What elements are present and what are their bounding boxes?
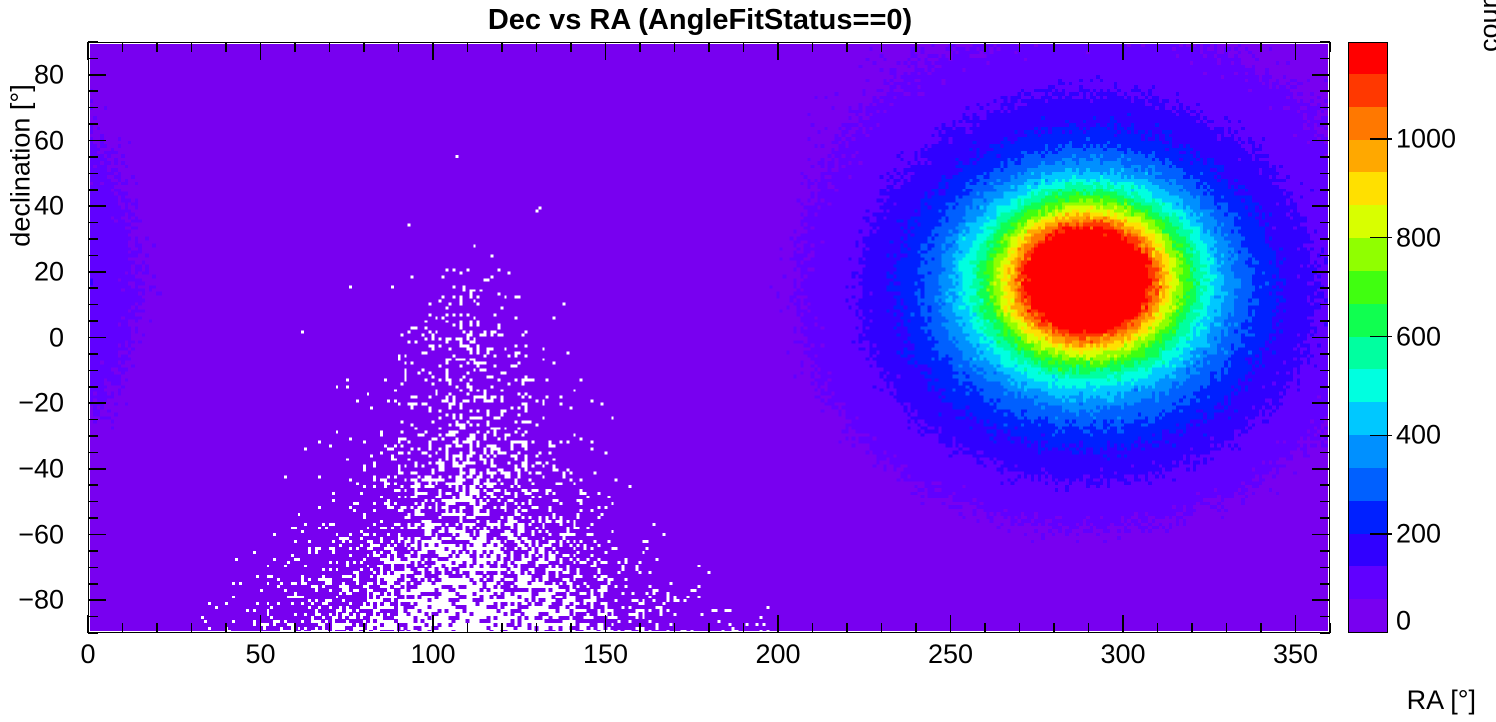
x-tick-minor-top	[329, 42, 331, 52]
x-tick-minor	[294, 623, 296, 633]
x-tick-minor-top	[708, 42, 710, 52]
x-tick-minor-top	[398, 42, 400, 52]
y-tick-minor	[88, 452, 98, 454]
x-tick-minor-top	[536, 42, 538, 52]
x-tick-minor	[1191, 623, 1193, 633]
y-tick-minor-right	[1320, 583, 1330, 585]
x-tick-label: 250	[928, 639, 973, 670]
y-tick-minor-right	[1320, 517, 1330, 519]
y-tick-minor-right	[1312, 205, 1330, 207]
y-tick-minor	[88, 435, 98, 437]
color-scale-tick-label: 0	[1396, 606, 1411, 637]
x-tick-minor	[777, 615, 779, 633]
y-tick-minor-right	[1320, 173, 1330, 175]
y-tick-minor	[88, 189, 98, 191]
x-tick-minor	[329, 623, 331, 633]
color-scale-tick-label: 200	[1396, 519, 1441, 550]
x-tick-minor	[122, 623, 124, 633]
y-tick-minor-right	[1320, 123, 1330, 125]
y-tick-minor	[88, 386, 98, 388]
x-tick-minor-top	[984, 42, 986, 52]
x-tick-minor	[1088, 623, 1090, 633]
x-tick-minor-top	[156, 42, 158, 52]
x-tick-minor	[1157, 623, 1159, 633]
x-tick-label: 200	[755, 639, 800, 670]
x-tick-minor	[950, 615, 952, 633]
x-tick-label: 150	[583, 639, 628, 670]
y-axis-title-text: declination [°]	[6, 84, 37, 246]
plot-canvas-root: Dec vs RA (AngleFitStatus==0) 0501001502…	[0, 0, 1496, 722]
color-band	[1349, 42, 1387, 74]
x-tick-minor	[1295, 615, 1297, 633]
color-band	[1349, 402, 1387, 435]
y-tick-minor	[88, 304, 98, 306]
x-tick-minor	[1019, 623, 1021, 633]
x-tick-label: 300	[1100, 639, 1145, 670]
y-tick-minor-right	[1320, 370, 1330, 372]
histogram-image	[90, 44, 1329, 632]
x-tick-minor	[605, 615, 607, 633]
x-tick-minor-top	[605, 42, 607, 60]
x-tick-minor	[191, 623, 193, 633]
y-tick-minor-right	[1320, 287, 1330, 289]
x-tick-minor	[501, 623, 503, 633]
y-tick-minor-right	[1320, 484, 1330, 486]
x-tick-minor	[984, 623, 986, 633]
x-tick-minor	[1122, 615, 1124, 633]
x-axis-title: RA [°]	[1407, 685, 1476, 716]
y-tick-minor	[88, 255, 98, 257]
y-tick-minor	[88, 238, 98, 240]
x-tick-minor	[570, 623, 572, 633]
y-tick-minor	[88, 222, 98, 224]
y-tick-minor-right	[1312, 402, 1330, 404]
x-tick-minor	[156, 623, 158, 633]
x-tick-minor-top	[1053, 42, 1055, 52]
x-tick-minor-top	[950, 42, 952, 60]
color-band	[1349, 566, 1387, 599]
x-tick-minor-top	[812, 42, 814, 52]
y-tick-minor-right	[1320, 616, 1330, 618]
x-tick-minor	[1260, 623, 1262, 633]
y-tick-minor-right	[1312, 599, 1330, 601]
y-tick-minor-right	[1312, 271, 1330, 273]
x-tick-minor-top	[1019, 42, 1021, 52]
x-tick-minor-top	[260, 42, 262, 60]
color-scale-tick-label: 600	[1396, 321, 1441, 352]
y-tick-minor-right	[1320, 41, 1330, 43]
x-tick-minor-top	[467, 42, 469, 52]
y-tick-minor-right	[1320, 58, 1330, 60]
y-tick-minor	[88, 550, 98, 552]
color-scale-bar	[1348, 42, 1388, 633]
color-band	[1349, 106, 1387, 139]
y-tick-minor	[88, 320, 98, 322]
x-tick-minor-top	[294, 42, 296, 52]
color-band	[1349, 369, 1387, 402]
y-tick-minor-right	[1320, 435, 1330, 437]
y-tick-minor	[88, 140, 106, 142]
x-tick-minor	[915, 623, 917, 633]
y-tick-minor-right	[1320, 156, 1330, 158]
x-tick-minor-top	[225, 42, 227, 52]
y-tick-minor-right	[1320, 501, 1330, 503]
y-tick-minor-right	[1320, 90, 1330, 92]
x-tick-label: 100	[410, 639, 455, 670]
color-band	[1349, 237, 1387, 270]
y-tick-minor-right	[1320, 632, 1330, 634]
y-tick-minor-right	[1312, 534, 1330, 536]
x-tick-minor	[398, 623, 400, 633]
x-tick-minor	[467, 623, 469, 633]
y-tick-minor-right	[1320, 386, 1330, 388]
chart-title: Dec vs RA (AngleFitStatus==0)	[0, 4, 1400, 37]
x-tick-minor-top	[122, 42, 124, 52]
y-tick-minor	[88, 599, 106, 601]
x-tick-minor-top	[363, 42, 365, 52]
x-tick-minor-top	[1226, 42, 1228, 52]
x-tick-minor-top	[743, 42, 745, 52]
color-band	[1349, 139, 1387, 172]
y-tick-minor-right	[1312, 468, 1330, 470]
y-tick-minor	[88, 419, 98, 421]
x-tick-minor-top	[501, 42, 503, 52]
y-tick-minor-right	[1320, 238, 1330, 240]
color-scale-tick-label: 400	[1396, 420, 1441, 451]
x-tick-minor-top	[639, 42, 641, 52]
y-tick-minor-right	[1320, 320, 1330, 322]
x-tick-minor	[1053, 623, 1055, 633]
x-tick-label: 350	[1273, 639, 1318, 670]
x-tick-label: 0	[80, 639, 95, 670]
y-tick-minor	[88, 107, 98, 109]
color-scale-title: count	[1448, 46, 1482, 186]
y-axis-title: declination [°]	[6, 42, 36, 633]
x-tick-minor	[639, 623, 641, 633]
y-tick-minor	[88, 58, 98, 60]
y-tick-minor	[88, 468, 106, 470]
color-scale-tick	[1370, 138, 1392, 140]
x-tick-minor-top	[1088, 42, 1090, 52]
color-band	[1349, 172, 1387, 205]
x-tick-minor-top	[846, 42, 848, 52]
y-tick-minor	[88, 123, 98, 125]
y-tick-minor-right	[1320, 353, 1330, 355]
y-tick-minor	[88, 74, 106, 76]
y-tick-minor	[88, 287, 98, 289]
x-tick-label: 50	[245, 639, 275, 670]
y-tick-minor-right	[1320, 189, 1330, 191]
y-tick-minor-right	[1320, 419, 1330, 421]
y-tick-minor-right	[1312, 140, 1330, 142]
y-tick-minor	[88, 402, 106, 404]
x-tick-minor	[812, 623, 814, 633]
x-tick-minor	[708, 623, 710, 633]
color-band	[1349, 467, 1387, 500]
x-tick-minor-top	[777, 42, 779, 60]
y-tick-minor	[88, 156, 98, 158]
color-band	[1349, 500, 1387, 533]
y-tick-minor-right	[1312, 337, 1330, 339]
color-band	[1349, 434, 1387, 467]
x-tick-minor-top	[674, 42, 676, 52]
y-tick-minor	[88, 567, 98, 569]
y-tick-minor	[88, 534, 106, 536]
y-tick-minor-right	[1320, 222, 1330, 224]
x-tick-minor-top	[191, 42, 193, 52]
y-tick-minor	[88, 337, 106, 339]
y-tick-minor	[88, 173, 98, 175]
x-tick-minor	[881, 623, 883, 633]
y-tick-minor	[88, 370, 98, 372]
y-tick-minor	[88, 484, 98, 486]
y-tick-minor	[88, 41, 98, 43]
y-tick-minor	[88, 583, 98, 585]
color-band	[1349, 599, 1387, 632]
x-tick-minor-top	[1295, 42, 1297, 60]
y-tick-minor	[88, 271, 106, 273]
color-scale-tick-label: 800	[1396, 222, 1441, 253]
x-tick-minor-top	[1157, 42, 1159, 52]
y-tick-minor	[88, 205, 106, 207]
color-scale-title-text: count	[1474, 0, 1496, 52]
y-tick-minor	[88, 517, 98, 519]
y-tick-minor-right	[1312, 74, 1330, 76]
y-tick-minor	[88, 353, 98, 355]
y-tick-minor-right	[1320, 567, 1330, 569]
color-scale-tick	[1370, 336, 1392, 338]
x-tick-minor	[846, 623, 848, 633]
x-tick-minor	[743, 623, 745, 633]
y-tick-minor-right	[1320, 107, 1330, 109]
color-band	[1349, 270, 1387, 303]
x-tick-minor-top	[570, 42, 572, 52]
x-tick-minor	[674, 623, 676, 633]
y-tick-minor	[88, 90, 98, 92]
x-tick-minor	[225, 623, 227, 633]
y-tick-minor-right	[1320, 550, 1330, 552]
x-tick-minor-top	[1329, 42, 1331, 52]
y-tick-minor	[88, 501, 98, 503]
y-tick-minor-right	[1320, 452, 1330, 454]
color-band	[1349, 73, 1387, 106]
x-tick-minor-top	[1122, 42, 1124, 60]
x-tick-minor-top	[432, 42, 434, 60]
y-tick-minor-right	[1320, 255, 1330, 257]
x-tick-minor-top	[915, 42, 917, 52]
color-band	[1349, 336, 1387, 369]
color-band	[1349, 303, 1387, 336]
x-tick-minor	[536, 623, 538, 633]
x-tick-minor-top	[881, 42, 883, 52]
y-tick-minor	[88, 632, 98, 634]
color-scale-tick	[1370, 237, 1392, 239]
color-band	[1349, 205, 1387, 238]
color-band	[1349, 533, 1387, 566]
y-tick-minor	[88, 616, 98, 618]
x-tick-minor-top	[1191, 42, 1193, 52]
x-tick-minor	[432, 615, 434, 633]
x-tick-minor	[260, 615, 262, 633]
x-tick-minor	[363, 623, 365, 633]
x-tick-minor	[1226, 623, 1228, 633]
y-tick-minor-right	[1320, 304, 1330, 306]
color-scale-tick	[1370, 533, 1392, 535]
x-tick-minor	[87, 615, 89, 633]
x-tick-minor-top	[1260, 42, 1262, 52]
color-scale-tick	[1370, 435, 1392, 437]
